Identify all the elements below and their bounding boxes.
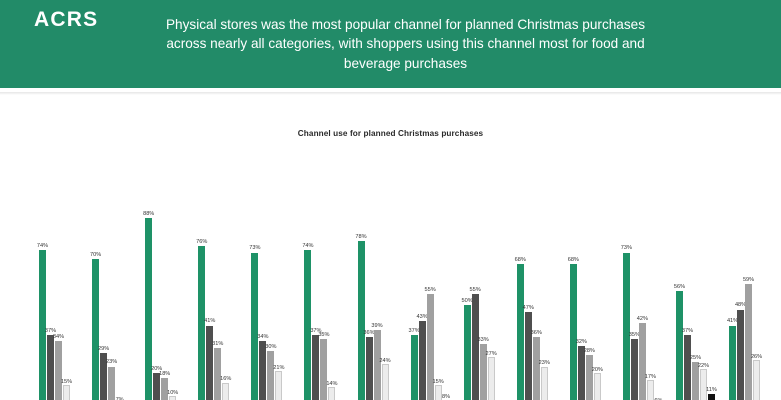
bar-value-label: 68%	[515, 258, 526, 264]
bar: 37%	[47, 335, 54, 400]
bar-value-label: 21%	[273, 366, 284, 372]
bar: 56%	[676, 291, 683, 400]
bar-value-label: 26%	[751, 355, 762, 361]
bar-value-label: 8%	[442, 395, 450, 400]
bar-groups: 74%37%34%15%4%70%29%23%7%3%88%20%18%10%4…	[32, 177, 775, 400]
bar: 41%	[729, 326, 736, 400]
bar-value-label: 47%	[523, 306, 534, 312]
bar-value-label: 37%	[682, 329, 693, 335]
bar-value-label: 59%	[743, 278, 754, 284]
header-banner: ACRS Physical stores was the most popula…	[0, 0, 781, 88]
bar-value-label: 55%	[470, 288, 481, 294]
bar: 37%	[411, 335, 418, 400]
bar: 55%	[472, 294, 479, 400]
bar-value-label: 25%	[690, 356, 701, 362]
chart-page: ACRS Physical stores was the most popula…	[0, 0, 781, 400]
bar: 17%	[647, 380, 654, 400]
bar-group: 56%37%25%22%11%	[669, 177, 722, 400]
bar-value-label: 16%	[220, 377, 231, 383]
bar-value-label: 17%	[645, 375, 656, 381]
bar: 70%	[92, 259, 99, 400]
bar: 34%	[55, 341, 62, 400]
bar-value-label: 74%	[37, 244, 48, 250]
bar-value-label: 20%	[592, 368, 603, 374]
bar: 74%	[39, 250, 46, 400]
bar: 30%	[267, 351, 274, 400]
bar-value-label: 37%	[45, 329, 56, 335]
bar-value-label: 70%	[90, 253, 101, 259]
bar: 21%	[275, 371, 282, 400]
bar-group: 68%47%36%23%5%	[510, 177, 563, 400]
bar-group: 73%34%30%21%3%	[244, 177, 297, 400]
bar-group: 37%43%55%15%8%	[404, 177, 457, 400]
bar-value-label: 55%	[424, 288, 435, 294]
bar-group: 74%37%35%14%1%	[297, 177, 350, 400]
bar: 15%	[63, 385, 70, 400]
bar: 23%	[108, 367, 115, 400]
bar: 35%	[631, 339, 638, 400]
bar: 68%	[570, 264, 577, 400]
bar: 48%	[737, 310, 744, 400]
bar-value-label: 24%	[379, 359, 390, 365]
bar-value-label: 30%	[265, 345, 276, 351]
bar-value-label: 14%	[326, 382, 337, 388]
bar: 78%	[358, 241, 365, 400]
bar-value-label: 36%	[531, 331, 542, 337]
bar-value-label: 73%	[249, 246, 260, 252]
bar-group: 88%20%18%10%4%	[138, 177, 191, 400]
chart-container: Channel use for planned Christmas purcha…	[0, 129, 781, 400]
bar-value-label: 33%	[478, 338, 489, 344]
bar-value-label: 28%	[584, 349, 595, 355]
bar: 50%	[464, 305, 471, 400]
plot-area: 74%37%34%15%4%70%29%23%7%3%88%20%18%10%4…	[32, 177, 775, 400]
bar: 43%	[419, 321, 426, 400]
bar-group: 78%36%39%24%5%	[350, 177, 403, 400]
bar-value-label: 15%	[432, 380, 443, 386]
bar-value-label: 42%	[637, 317, 648, 323]
chart-title: Channel use for planned Christmas purcha…	[0, 129, 781, 138]
bar-group: 41%48%59%26%0%	[722, 177, 775, 400]
headline-text: Physical stores was the most popular cha…	[0, 15, 781, 73]
bar: 36%	[533, 337, 540, 400]
bar: 47%	[525, 312, 532, 400]
bar: 41%	[206, 326, 213, 400]
bar: 73%	[623, 253, 630, 400]
bar: 26%	[753, 360, 760, 400]
bar-value-label: 34%	[257, 335, 268, 341]
bar-value-label: 73%	[621, 246, 632, 252]
bar-value-label: 10%	[167, 391, 178, 397]
bar: 35%	[320, 339, 327, 400]
bar-value-label: 22%	[698, 364, 709, 370]
bar-value-label: 15%	[61, 380, 72, 386]
bar: 34%	[259, 341, 266, 400]
bar-value-label: 76%	[196, 240, 207, 246]
banner-shadow	[0, 92, 781, 95]
bar-value-label: 35%	[318, 333, 329, 339]
bar: 37%	[312, 335, 319, 400]
bar: 31%	[214, 348, 221, 400]
bar-group: 76%41%31%16%3%	[191, 177, 244, 400]
bar-group: 70%29%23%7%3%	[85, 177, 138, 400]
bar: 39%	[374, 330, 381, 400]
bar: 22%	[700, 369, 707, 400]
bar: 14%	[328, 387, 335, 400]
bar: 36%	[366, 337, 373, 400]
bar-value-label: 31%	[212, 342, 223, 348]
bar-value-label: 23%	[106, 360, 117, 366]
bar-value-label: 29%	[98, 347, 109, 353]
bar: 27%	[488, 357, 495, 400]
bar: 28%	[586, 355, 593, 400]
bar-group: 50%55%33%27%4%	[457, 177, 510, 400]
bar: 10%	[169, 396, 176, 400]
bar: 68%	[517, 264, 524, 400]
bar: 74%	[304, 250, 311, 400]
bar-value-label: 11%	[706, 388, 717, 394]
bar-value-label: 23%	[539, 361, 550, 367]
bar-value-label: 56%	[674, 285, 685, 291]
bar-value-label: 68%	[568, 258, 579, 264]
bar-value-label: 74%	[302, 244, 313, 250]
bar-value-label: 41%	[204, 319, 215, 325]
bar: 16%	[222, 383, 229, 400]
bar-group: 68%32%28%20%2%	[563, 177, 616, 400]
bar: 37%	[684, 335, 691, 400]
bar-value-label: 32%	[576, 340, 587, 346]
bar-value-label: 88%	[143, 212, 154, 218]
bar: 59%	[745, 284, 752, 400]
brand-logo: ACRS	[34, 8, 98, 32]
bar: 73%	[251, 253, 258, 400]
bar-value-label: 39%	[371, 324, 382, 330]
bar-group: 74%37%34%15%4%	[32, 177, 85, 400]
bar-group: 73%35%42%17%6%	[616, 177, 669, 400]
bar-value-label: 34%	[53, 335, 64, 341]
bar-value-label: 27%	[486, 352, 497, 358]
bar: 42%	[639, 323, 646, 400]
bar: 11%	[708, 394, 715, 400]
bar: 15%	[435, 385, 442, 400]
bar: 20%	[594, 373, 601, 400]
bar-value-label: 18%	[159, 372, 170, 378]
bar: 23%	[541, 367, 548, 400]
bar-value-label: 78%	[355, 235, 366, 241]
bar: 24%	[382, 364, 389, 400]
